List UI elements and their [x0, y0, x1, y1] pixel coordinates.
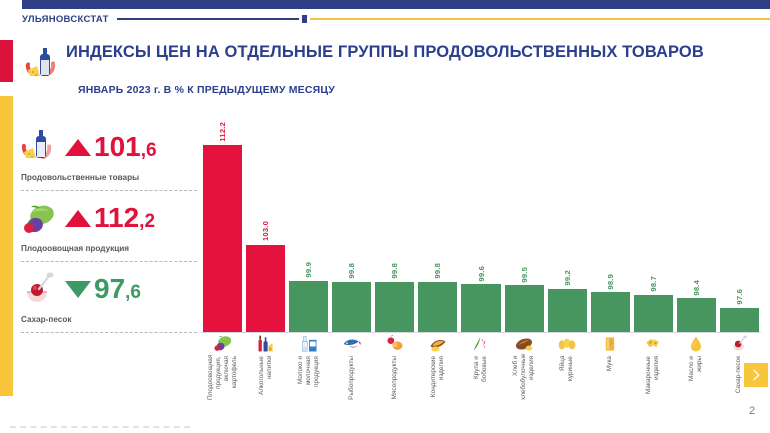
x-axis-label: Плодоовощная продукция, включая картофел…	[207, 356, 239, 400]
trend-up-triangle-icon	[65, 210, 91, 227]
summary-value-dec: ,2	[139, 211, 155, 232]
bar-column: 99.8	[418, 122, 457, 332]
bar-value-label: 97.6	[735, 289, 744, 305]
x-axis-column: Крупа и бобовые	[461, 333, 500, 395]
page-subtitle: ЯНВАРЬ 2023 г. В % К ПРЕДЫДУЩЕМУ МЕСЯЦУ	[78, 84, 335, 96]
edge-accent-red	[0, 40, 13, 82]
chevron-right-icon	[748, 367, 764, 383]
oil-drop-icon	[685, 334, 707, 354]
bar-column: 98.9	[591, 122, 630, 332]
bar-value-label: 99.6	[477, 266, 486, 282]
x-axis-column: Кондитерские изделия	[418, 333, 457, 395]
x-axis-label: Рыбопродукты	[348, 356, 356, 400]
x-axis-label: Кондитерские изделия	[430, 356, 446, 397]
brand-square-marker	[302, 15, 307, 23]
summary-label: Сахар-песок	[21, 315, 71, 324]
page-title: ИНДЕКСЫ ЦЕН НА ОТДЕЛЬНЫЕ ГРУППЫ ПРОДОВОЛ…	[66, 43, 756, 61]
bar-value-label: 112.2	[218, 122, 227, 142]
x-axis-column: Масло и жиры	[677, 333, 716, 395]
x-axis-column: Плодоовощная продукция, включая картофел…	[203, 333, 242, 395]
vegetables-icon	[212, 334, 234, 354]
bar-value-label: 99.8	[433, 263, 442, 279]
bar-column: 98.4	[677, 122, 716, 332]
bar-value-label: 98.9	[606, 274, 615, 290]
sugar-bowl-icon	[728, 334, 750, 354]
x-axis-label: Яйца куриные	[559, 356, 575, 395]
x-axis-label: Мясопродукты	[391, 356, 399, 399]
summary-value: 101,6	[94, 133, 157, 161]
bar-column: 99.2	[548, 122, 587, 332]
x-axis-label: Мука	[606, 356, 614, 371]
sugar-bowl-icon	[19, 269, 59, 309]
food-basket-icon	[22, 44, 58, 80]
bar-value-label: 99.9	[304, 262, 313, 278]
brand-rule-navy	[117, 18, 299, 20]
x-axis-column: Рыбопродукты	[332, 333, 371, 395]
bar-column: 112.2	[203, 122, 242, 332]
brand-row: УЛЬЯНОВСКСТАТ	[22, 9, 770, 29]
infographic-page: УЛЬЯНОВСКСТАТ ИНДЕКСЫ ЦЕН НА ОТДЕЛЬНЫЕ Г…	[0, 0, 770, 433]
bar-value-label: 98.7	[649, 276, 658, 292]
x-axis-label: Алкогольные напитки	[258, 356, 274, 395]
x-axis-label: Сахар-песок	[735, 356, 743, 393]
top-navy-bar	[22, 0, 770, 9]
alcohol-bottles-icon	[255, 334, 277, 354]
bar-column: 99.9	[289, 122, 328, 332]
x-axis-column: Мясопродукты	[375, 333, 414, 395]
bar-rect	[505, 285, 544, 332]
confectionery-icon	[427, 334, 449, 354]
bottom-dashed-rule	[10, 426, 190, 428]
bar-rect	[289, 281, 328, 332]
x-axis-column: Макаронные изделия	[634, 333, 673, 395]
x-axis-column: Хлеб и хлебобулочные изделия	[505, 333, 544, 395]
bar-value-label: 99.5	[520, 267, 529, 283]
bar-column: 99.8	[375, 122, 414, 332]
bar-column: 99.6	[461, 122, 500, 332]
food-products-icon	[19, 127, 59, 167]
summary-label: Плодоовощная продукция	[21, 244, 129, 253]
summary-value-int: 101	[94, 131, 141, 162]
flour-icon	[599, 334, 621, 354]
bar-column: 97.6	[720, 122, 759, 332]
brand-rule-gold	[310, 18, 770, 20]
edge-accent-gold	[0, 96, 13, 396]
bar-rect	[332, 282, 371, 332]
x-axis-column: Алкогольные напитки	[246, 333, 285, 395]
x-axis-label: Масло и жиры	[688, 356, 704, 395]
vegetables-icon	[19, 198, 59, 238]
chart-x-axis: Плодоовощная продукция, включая картофел…	[201, 333, 761, 395]
bar-value-label: 99.8	[390, 263, 399, 279]
summary-item-food-products: 101,6 Продовольственные товары	[13, 120, 201, 191]
summary-value-dec: ,6	[125, 282, 141, 303]
summary-value: 112,2	[94, 204, 155, 232]
price-index-bar-chart: 112.2103.099.999.899.899.899.699.599.298…	[201, 122, 761, 332]
brand-name: УЛЬЯНОВСКСТАТ	[22, 14, 117, 25]
x-axis-column: Молоко и молочная продукция	[289, 333, 328, 395]
eggs-icon	[556, 334, 578, 354]
next-page-button[interactable]	[744, 363, 768, 387]
bar-rect	[591, 292, 630, 332]
summary-item-vegetables: 112,2 Плодоовощная продукция	[13, 191, 201, 262]
summary-item-sugar: 97,6 Сахар-песок	[13, 262, 201, 333]
bar-value-label: 103.0	[261, 221, 270, 241]
bar-rect	[548, 289, 587, 332]
milk-icon	[298, 334, 320, 354]
bar-column: 99.5	[505, 122, 544, 332]
grains-beans-icon	[470, 334, 492, 354]
pasta-icon	[642, 334, 664, 354]
bar-rect	[461, 284, 500, 332]
fish-icon	[341, 334, 363, 354]
bar-column: 98.7	[634, 122, 673, 332]
bar-column: 99.8	[332, 122, 371, 332]
x-axis-label: Макаронные изделия	[645, 356, 661, 395]
summary-panel: 101,6 Продовольственные товары	[13, 120, 201, 335]
x-axis-label: Хлеб и хлебобулочные изделия	[512, 356, 536, 400]
bar-rect	[677, 298, 716, 332]
bar-rect	[418, 282, 457, 332]
bar-rect	[634, 295, 673, 332]
summary-value-int: 112	[94, 202, 139, 233]
summary-value-int: 97	[94, 273, 125, 304]
summary-value: 97,6	[94, 275, 141, 303]
x-axis-label: Молоко и молочная продукция	[297, 356, 321, 395]
bar-column: 103.0	[246, 122, 285, 332]
bar-value-label: 99.8	[347, 263, 356, 279]
chart-plot-area: 112.2103.099.999.899.899.899.699.599.298…	[201, 122, 761, 332]
trend-up-triangle-icon	[65, 139, 91, 156]
summary-value-dec: ,6	[141, 140, 157, 161]
bar-rect	[375, 282, 414, 332]
x-axis-column: Яйца куриные	[548, 333, 587, 395]
trend-down-triangle-icon	[65, 281, 91, 298]
summary-label: Продовольственные товары	[21, 173, 139, 182]
x-axis-label: Крупа и бобовые	[473, 356, 489, 395]
bar-value-label: 98.4	[692, 280, 701, 296]
bread-icon	[513, 334, 535, 354]
summary-divider	[21, 332, 197, 333]
page-number: 2	[749, 405, 755, 417]
x-axis-column: Мука	[591, 333, 630, 395]
bar-rect	[246, 245, 285, 333]
bar-rect	[203, 145, 242, 332]
bar-rect	[720, 308, 759, 333]
bar-value-label: 99.2	[563, 270, 572, 286]
meat-icon	[384, 334, 406, 354]
